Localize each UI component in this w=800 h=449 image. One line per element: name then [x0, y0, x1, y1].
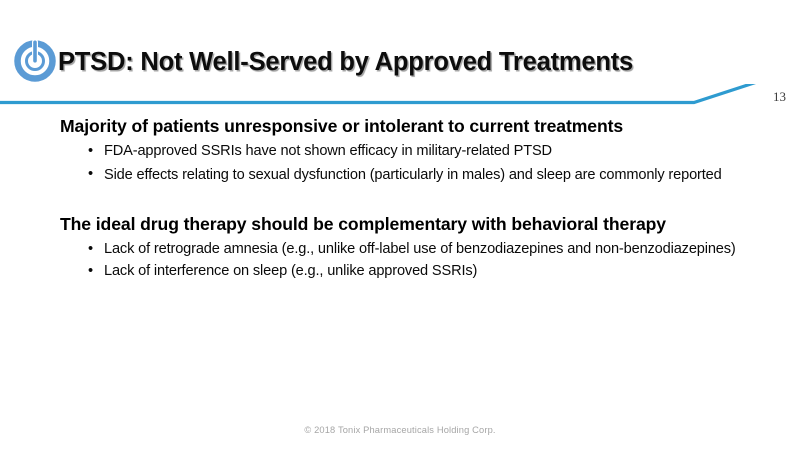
slide-title: PTSD: Not Well-Served by Approved Treatm…: [58, 48, 718, 77]
page-number: 13: [773, 89, 786, 105]
tonix-power-logo-icon: [8, 32, 62, 86]
content-section: Majority of patients unresponsive or int…: [60, 116, 750, 184]
bullet-dot-icon: •: [88, 240, 93, 258]
bullet-dot-icon: •: [88, 165, 93, 183]
bullet-text: Side effects relating to sexual dysfunct…: [104, 167, 722, 183]
copyright-footer: © 2018 Tonix Pharmaceuticals Holding Cor…: [0, 425, 800, 435]
header-accent-rule: [0, 84, 800, 119]
bullet-text: Lack of retrograde amnesia (e.g., unlike…: [104, 241, 736, 257]
bullet-dot-icon: •: [88, 142, 93, 160]
bullet-item: • Side effects relating to sexual dysfun…: [88, 166, 750, 184]
section-heading: Majority of patients unresponsive or int…: [60, 116, 750, 137]
bullet-list: • FDA-approved SSRIs have not shown effi…: [60, 142, 750, 183]
section-heading: The ideal drug therapy should be complem…: [60, 214, 750, 235]
presentation-slide: PTSD: Not Well-Served by Approved Treatm…: [0, 0, 800, 449]
slide-body: Majority of patients unresponsive or int…: [60, 116, 750, 284]
content-section: The ideal drug therapy should be complem…: [60, 214, 750, 281]
bullet-dot-icon: •: [88, 262, 93, 280]
bullet-text: Lack of interference on sleep (e.g., unl…: [104, 263, 477, 279]
bullet-item: • Lack of interference on sleep (e.g., u…: [88, 262, 750, 280]
bullet-item: • Lack of retrograde amnesia (e.g., unli…: [88, 240, 750, 258]
bullet-text: FDA-approved SSRIs have not shown effica…: [104, 143, 552, 159]
bullet-list: • Lack of retrograde amnesia (e.g., unli…: [60, 240, 750, 280]
bullet-item: • FDA-approved SSRIs have not shown effi…: [88, 142, 750, 160]
